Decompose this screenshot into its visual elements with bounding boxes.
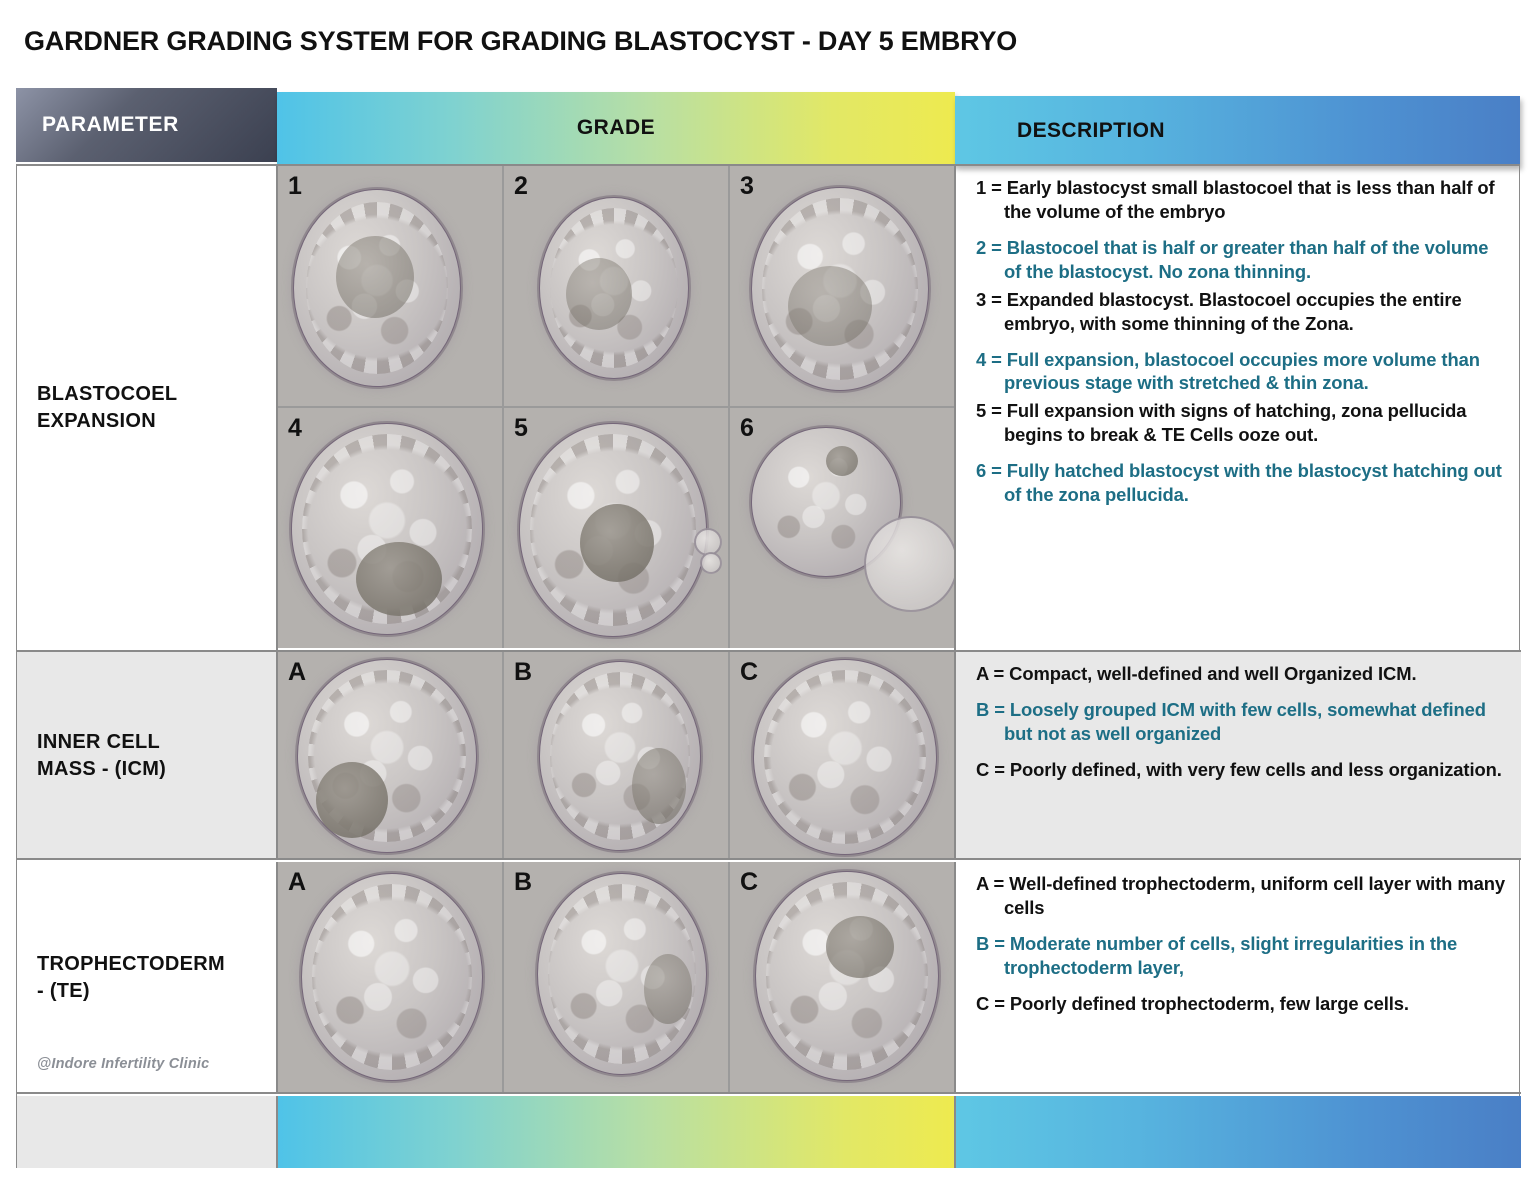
watermark-label: @Indore Infertility Clinic xyxy=(37,1056,209,1072)
row-divider xyxy=(17,858,1521,860)
infographic-page: GARDNER GRADING SYSTEM FOR GRADING BLAST… xyxy=(0,0,1536,1193)
parameter-cell-trophectoderm: TROPHECTODERM - (TE) @Indore Infertility… xyxy=(17,862,278,1094)
grade-tag: 4 xyxy=(288,414,302,443)
grade-subrow-1: A B xyxy=(278,652,954,860)
header-grade: GRADE xyxy=(277,92,955,164)
table-body: BLASTOCOEL EXPANSION 1 xyxy=(16,164,1520,1168)
embryo-image-2[interactable]: 2 xyxy=(504,166,730,406)
grade-tag: B xyxy=(514,868,532,897)
description-cell-blastocoel-expansion: 1 = Early blastocyst small blastocoel th… xyxy=(956,166,1521,650)
grading-table: PARAMETER GRADE DESCRIPTION BLASTOCOEL E… xyxy=(16,88,1520,1168)
footer-parameter-cell xyxy=(17,1096,278,1168)
grade-tag: A xyxy=(288,658,306,687)
embryo-image-icm-b[interactable]: B xyxy=(504,652,730,860)
description-line: C = Poorly defined, with very few cells … xyxy=(970,758,1507,782)
description-line: A = Well-defined trophectoderm, uniform … xyxy=(970,872,1507,920)
description-cell-trophectoderm: A = Well-defined trophectoderm, uniform … xyxy=(956,862,1521,1094)
grade-tag: 3 xyxy=(740,172,754,201)
grade-tag: 5 xyxy=(514,414,528,443)
embryo-image-te-b[interactable]: B xyxy=(504,862,730,1094)
footer-bar xyxy=(17,1096,1521,1168)
grade-cell-trophectoderm: A B xyxy=(278,862,956,1094)
header-description: DESCRIPTION xyxy=(955,96,1520,166)
description-line: 3 = Expanded blastocyst. Blastocoel occu… xyxy=(970,288,1507,336)
embryo-image-icm-a[interactable]: A xyxy=(278,652,504,860)
table-row: BLASTOCOEL EXPANSION 1 xyxy=(17,166,1521,650)
grade-tag: C xyxy=(740,868,758,897)
parameter-cell-blastocoel-expansion: BLASTOCOEL EXPANSION xyxy=(17,166,278,650)
table-row: TROPHECTODERM - (TE) @Indore Infertility… xyxy=(17,862,1521,1094)
parameter-label-line2: MASS - (ICM) xyxy=(37,756,276,783)
grade-tag: A xyxy=(288,868,306,897)
description-line: 6 = Fully hatched blastocyst with the bl… xyxy=(970,459,1507,507)
embryo-image-te-c[interactable]: C xyxy=(730,862,954,1094)
description-line: B = Loosely grouped ICM with few cells, … xyxy=(970,698,1507,746)
parameter-label-line1: INNER CELL xyxy=(37,729,276,756)
parameter-label-line2: - (TE) xyxy=(37,978,276,1005)
grade-subrow-1: A B xyxy=(278,862,954,1094)
header-parameter: PARAMETER xyxy=(16,88,277,162)
grade-tag: 6 xyxy=(740,414,754,443)
row-divider xyxy=(17,1092,1521,1094)
parameter-label-line1: TROPHECTODERM xyxy=(37,951,276,978)
grade-subrow-1: 1 2 xyxy=(278,166,954,408)
embryo-image-4[interactable]: 4 xyxy=(278,408,504,648)
description-line: 4 = Full expansion, blastocoel occupies … xyxy=(970,348,1507,396)
grade-tag: 1 xyxy=(288,172,302,201)
description-line: B = Moderate number of cells, slight irr… xyxy=(970,932,1507,980)
table-row: INNER CELL MASS - (ICM) A xyxy=(17,652,1521,860)
description-line: 1 = Early blastocyst small blastocoel th… xyxy=(970,176,1507,224)
grade-cell-inner-cell-mass: A B xyxy=(278,652,956,860)
embryo-image-icm-c[interactable]: C xyxy=(730,652,954,860)
description-line: 5 = Full expansion with signs of hatchin… xyxy=(970,399,1507,447)
description-line: C = Poorly defined trophectoderm, few la… xyxy=(970,992,1507,1016)
header-description-label: DESCRIPTION xyxy=(955,119,1165,143)
embryo-image-5[interactable]: 5 xyxy=(504,408,730,648)
grade-subrow-2: 4 5 xyxy=(278,408,954,648)
grade-tag: C xyxy=(740,658,758,687)
header-parameter-label: PARAMETER xyxy=(16,113,179,137)
parameter-cell-inner-cell-mass: INNER CELL MASS - (ICM) xyxy=(17,652,278,860)
parameter-label-line2: EXPANSION xyxy=(37,408,276,435)
grade-tag: B xyxy=(514,658,532,687)
description-cell-inner-cell-mass: A = Compact, well-defined and well Organ… xyxy=(956,652,1521,860)
embryo-image-3[interactable]: 3 xyxy=(730,166,954,406)
description-line: 2 = Blastocoel that is half or greater t… xyxy=(970,236,1507,284)
grade-cell-blastocoel-expansion: 1 2 xyxy=(278,166,956,650)
grade-tag: 2 xyxy=(514,172,528,201)
embryo-image-te-a[interactable]: A xyxy=(278,862,504,1094)
description-line: A = Compact, well-defined and well Organ… xyxy=(970,662,1507,686)
header-grade-label: GRADE xyxy=(577,116,655,140)
parameter-label-line1: BLASTOCOEL xyxy=(37,381,276,408)
embryo-image-6[interactable]: 6 xyxy=(730,408,954,648)
footer-description-gradient xyxy=(956,1096,1521,1168)
embryo-image-1[interactable]: 1 xyxy=(278,166,504,406)
footer-grade-gradient xyxy=(278,1096,956,1168)
page-title: GARDNER GRADING SYSTEM FOR GRADING BLAST… xyxy=(24,26,1017,57)
